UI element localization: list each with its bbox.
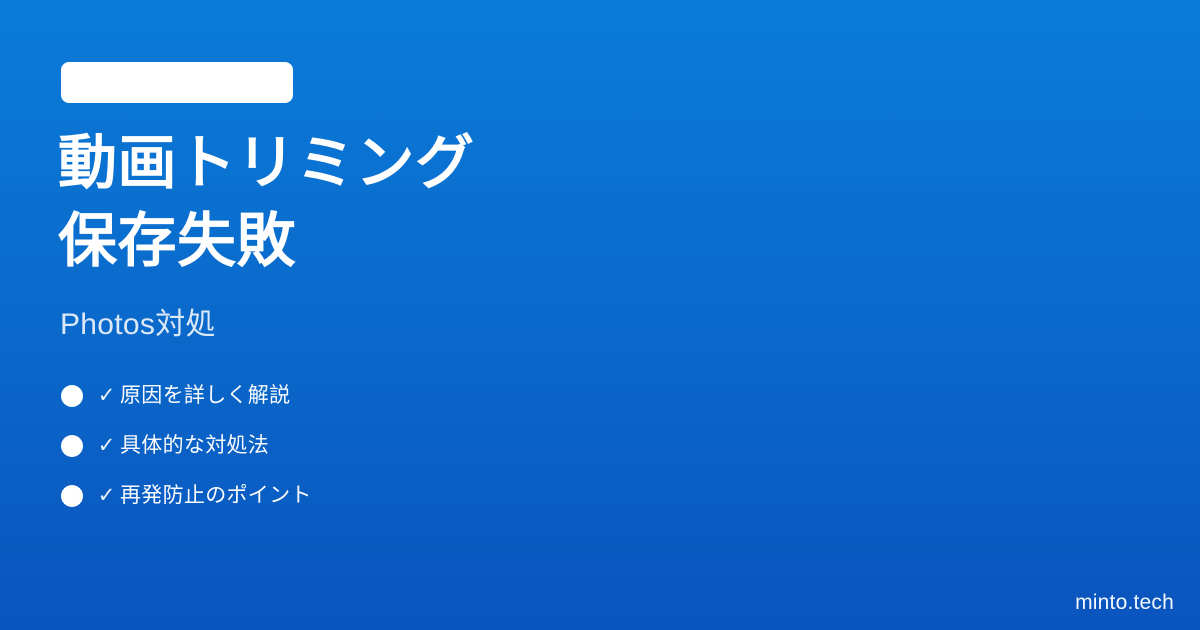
bullet-dot-icon (61, 485, 83, 507)
list-item: ✓ 具体的な対処法 (61, 431, 312, 460)
bullet-dot-icon (61, 435, 83, 457)
check-icon: ✓ (93, 485, 120, 506)
list-item-label: 再発防止のポイント (120, 481, 312, 510)
check-icon: ✓ (93, 435, 120, 456)
check-icon: ✓ (93, 385, 120, 406)
highlight-list: ✓ 原因を詳しく解説 ✓ 具体的な対処法 ✓ 再発防止のポイント (61, 381, 312, 510)
bullet-dot-icon (61, 385, 83, 407)
og-image-card: 動画トリミング 保存失敗 Photos対処 ✓ 原因を詳しく解説 ✓ 具体的な対… (0, 0, 1200, 630)
category-badge (61, 62, 293, 103)
site-brand: minto.tech (1075, 590, 1174, 616)
list-item: ✓ 原因を詳しく解説 (61, 381, 312, 410)
page-title: 動画トリミング 保存失敗 (58, 124, 475, 280)
list-item-label: 具体的な対処法 (120, 431, 269, 460)
list-item-label: 原因を詳しく解説 (120, 381, 290, 410)
page-subtitle: Photos対処 (60, 305, 216, 345)
list-item: ✓ 再発防止のポイント (61, 481, 312, 510)
